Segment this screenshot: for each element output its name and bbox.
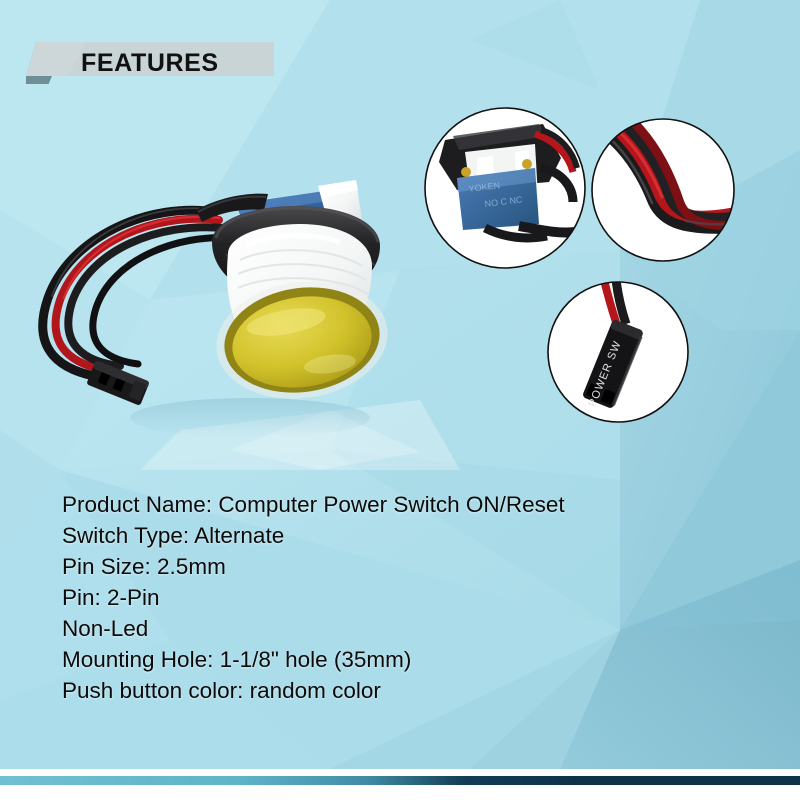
product-spec-list: Product Name: Computer Power Switch ON/R… [62,489,762,706]
push-button-illustration [0,150,430,450]
wire-harness [43,208,232,378]
spec-line: Push button color: random color [62,675,762,706]
inset-wire-detail [590,117,736,263]
banner-title: FEATURES [81,42,219,84]
spec-line: Switch Type: Alternate [62,520,762,551]
wire-detail-circle [590,117,736,263]
product-feature-image: FEATURES [0,0,800,800]
product-hero-image [0,150,430,450]
bottom-accent-bar [0,776,800,785]
connector-detail-circle: POWER SW [546,280,690,424]
spec-line: Non-Led [62,613,762,644]
spec-line: Pin: 2-Pin [62,582,762,613]
bottom-white-gap [0,769,800,776]
spec-line: Pin Size: 2.5mm [62,551,762,582]
spec-line: Mounting Hole: 1-1/8" hole (35mm) [62,644,762,675]
microswitch-detail-circle: YOKEN NO C NC [423,106,587,270]
footer-whitespace [0,785,800,800]
inset-connector-detail: POWER SW [546,280,690,424]
inset-microswitch-detail: YOKEN NO C NC [423,106,587,270]
spec-line: Product Name: Computer Power Switch ON/R… [62,489,762,520]
features-banner: FEATURES [26,42,274,84]
